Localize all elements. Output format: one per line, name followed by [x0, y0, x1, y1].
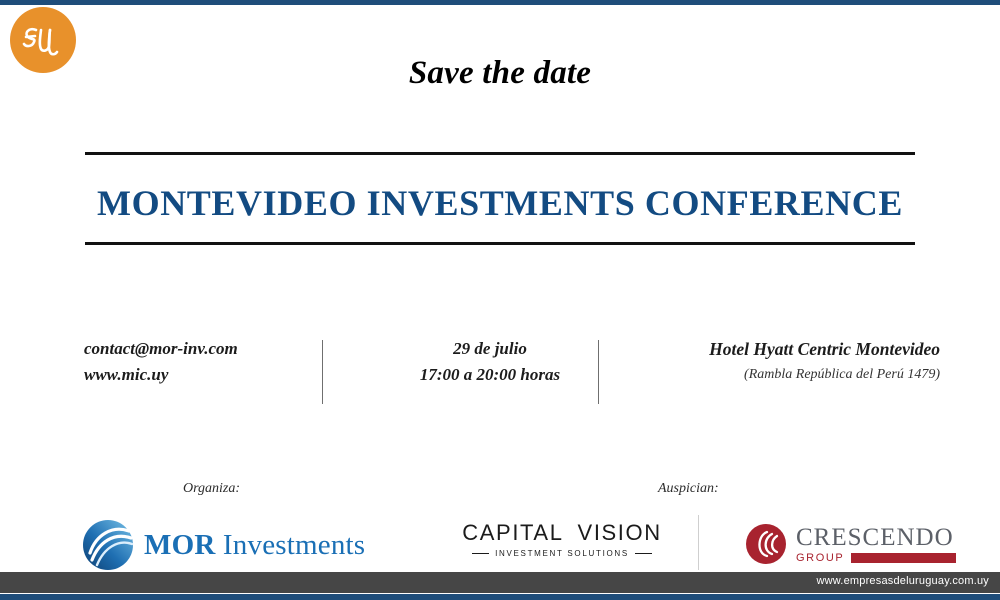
- capital-vision-word2: VISION: [578, 520, 662, 546]
- footer-website-url[interactable]: www.empresasdeluruguay.com.uy: [816, 575, 989, 587]
- crescendo-sub-row: GROUP: [796, 552, 956, 564]
- venue-name: Hotel Hyatt Centric Montevideo: [600, 336, 940, 362]
- flyer-canvas: Save the date MONTEVIDEO INVESTMENTS CON…: [0, 0, 1000, 600]
- mor-investments-logo[interactable]: MOR Investments: [82, 519, 365, 571]
- capital-vision-logo[interactable]: CAPITAL VISION INVESTMENT SOLUTIONS: [472, 520, 652, 558]
- mor-wordmark-rest: Investments: [215, 529, 365, 561]
- capital-vision-tagline-row: INVESTMENT SOLUTIONS: [472, 549, 652, 558]
- capital-vision-wordmark-row: CAPITAL VISION: [472, 520, 652, 546]
- crescendo-name: CRESCENDO: [796, 525, 956, 550]
- contact-website[interactable]: www.mic.uy: [84, 362, 238, 388]
- title-rule-bottom: [85, 242, 915, 245]
- bottom-accent-bar: [0, 594, 1000, 600]
- save-the-date-kicker: Save the date: [0, 55, 1000, 92]
- capital-vision-tagline: INVESTMENT SOLUTIONS: [495, 549, 629, 558]
- top-accent-bar: [0, 0, 1000, 5]
- sponsor-logo-divider: [698, 515, 699, 570]
- tagline-rule-left: [472, 553, 489, 554]
- tagline-rule-right: [635, 553, 652, 554]
- organizer-label: Organiza:: [183, 481, 240, 497]
- mor-wordmark-bold: MOR: [144, 529, 215, 561]
- crescendo-wordmark: CRESCENDO GROUP: [796, 525, 956, 564]
- event-datetime-block: 29 de julio 17:00 a 20:00 horas: [350, 336, 630, 388]
- title-rule-top: [85, 152, 915, 155]
- capital-vision-word1: CAPITAL: [462, 520, 563, 546]
- crescendo-group-word: GROUP: [796, 552, 844, 564]
- crescendo-red-bar: [851, 553, 956, 563]
- crescendo-circle-icon: [745, 523, 787, 565]
- contact-email[interactable]: contact@mor-inv.com: [84, 336, 238, 362]
- info-divider-2: [598, 340, 599, 404]
- mor-wordmark: MOR Investments: [144, 529, 365, 562]
- info-divider-1: [322, 340, 323, 404]
- event-info-row: contact@mor-inv.com www.mic.uy 29 de jul…: [60, 336, 940, 408]
- contact-info-block: contact@mor-inv.com www.mic.uy: [84, 336, 238, 388]
- mor-sphere-icon: [82, 519, 134, 571]
- event-time: 17:00 a 20:00 horas: [350, 362, 630, 388]
- sponsor-label: Auspician:: [658, 481, 719, 497]
- event-date: 29 de julio: [350, 336, 630, 362]
- venue-address: (Rambla República del Perú 1479): [600, 362, 940, 388]
- event-venue-block: Hotel Hyatt Centric Montevideo (Rambla R…: [600, 336, 940, 388]
- page-title: MONTEVIDEO INVESTMENTS CONFERENCE: [0, 182, 1000, 224]
- crescendo-group-logo[interactable]: CRESCENDO GROUP: [745, 523, 956, 565]
